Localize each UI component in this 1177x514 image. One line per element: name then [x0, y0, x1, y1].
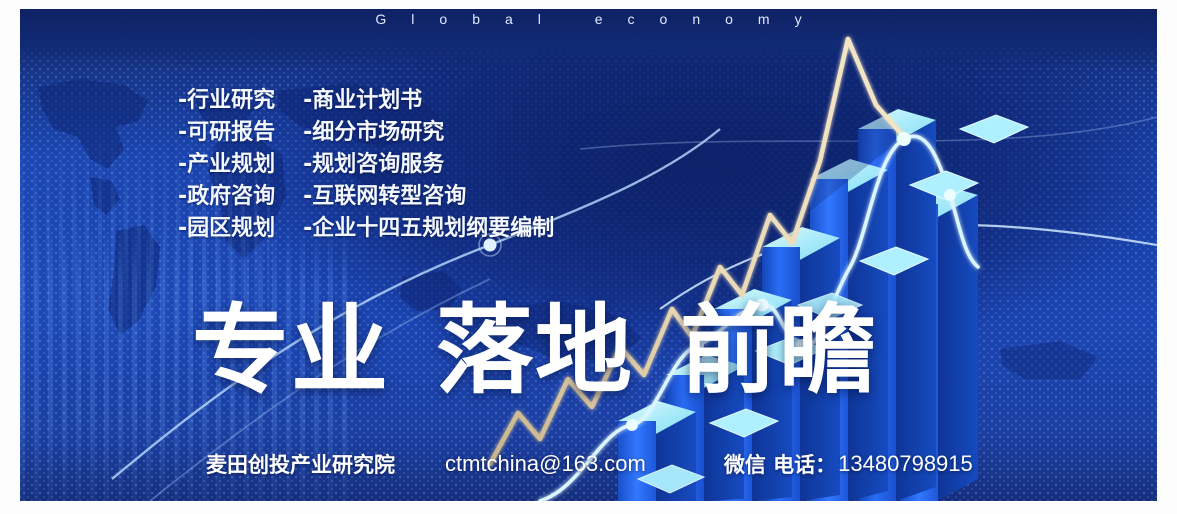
wechat-phone-label: 微信 电话：	[724, 449, 836, 479]
kicker-text: Global economy	[20, 11, 1157, 27]
service-item: -企业十四五规划纲要编制	[303, 215, 554, 242]
promotional-banner: Global economy -行业研究 -可研报告 -产业规划 -政府咨询 -…	[20, 9, 1157, 501]
service-item: -可研报告	[178, 119, 275, 146]
service-item: -园区规划	[178, 215, 275, 242]
service-item: -行业研究	[178, 87, 275, 114]
service-item: -规划咨询服务	[303, 151, 554, 178]
footer-contact-line: 麦田创投产业研究院 ctmtchina@163.com 微信 电话： 13480…	[206, 449, 973, 479]
service-item: -互联网转型咨询	[303, 183, 554, 210]
email-address[interactable]: ctmtchina@163.com	[445, 451, 646, 477]
headline-word: 前瞻	[680, 301, 878, 401]
growth-chart	[20, 9, 1157, 501]
service-item: -商业计划书	[303, 87, 554, 114]
phone-number[interactable]: 13480798915	[838, 451, 973, 477]
headline-word: 专业	[192, 301, 390, 401]
service-column-right: -商业计划书 -细分市场研究 -规划咨询服务 -互联网转型咨询 -企业十四五规划…	[303, 87, 554, 242]
headline: 专业 落地 前瞻	[192, 301, 878, 401]
service-item: -产业规划	[178, 151, 275, 178]
service-list-group: -行业研究 -可研报告 -产业规划 -政府咨询 -园区规划 -商业计划书 -细分…	[178, 87, 554, 242]
organization-name: 麦田创投产业研究院	[206, 449, 395, 479]
headline-word: 落地	[436, 301, 634, 401]
service-item: -政府咨询	[178, 183, 275, 210]
cube-marker	[900, 59, 978, 92]
banner-frame: Global economy -行业研究 -可研报告 -产业规划 -政府咨询 -…	[0, 0, 1177, 514]
service-column-left: -行业研究 -可研报告 -产业规划 -政府咨询 -园区规划	[178, 87, 275, 242]
service-item: -细分市场研究	[303, 119, 554, 146]
